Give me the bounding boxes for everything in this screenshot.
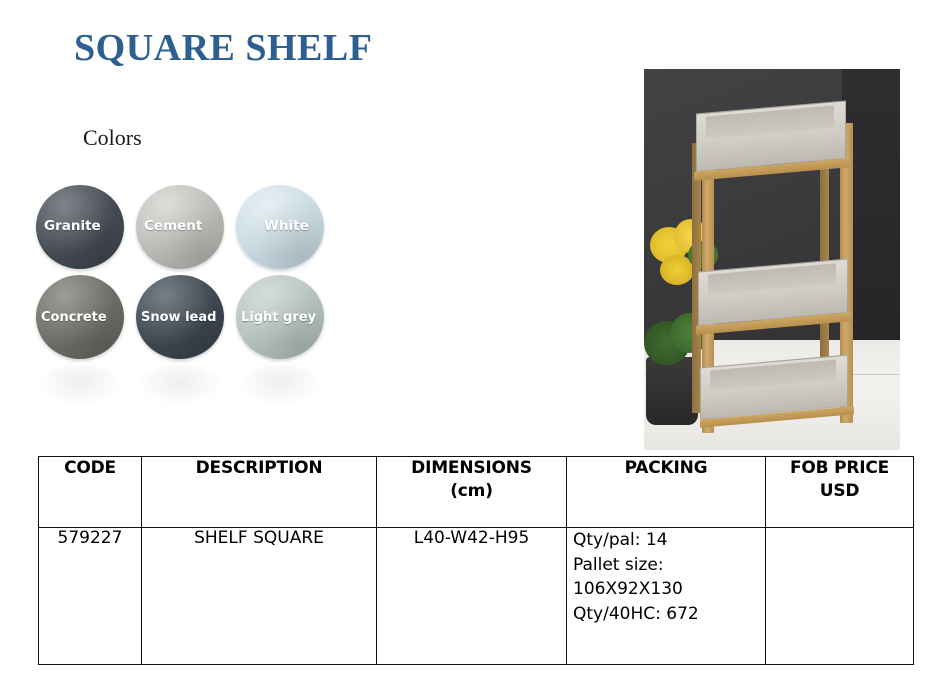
color-swatch-label: Granite xyxy=(36,220,101,234)
photo-planter xyxy=(646,357,698,425)
table-header-fob-price: FOB PRICE USD xyxy=(766,457,914,528)
color-swatch-label: Concrete xyxy=(36,311,107,324)
swatch-shadow xyxy=(136,365,224,407)
color-swatch-label: Snow lead xyxy=(136,311,216,324)
spec-table: CODE DESCRIPTION DIMENSIONS (cm) PACKING… xyxy=(38,456,914,665)
color-swatch-label: White xyxy=(236,220,309,234)
table-header-packing: PACKING xyxy=(567,457,766,528)
table-cell-fob-price xyxy=(766,528,914,665)
color-swatch-light-grey[interactable]: Light grey xyxy=(236,275,324,359)
page-title: SQUARE SHELF xyxy=(74,26,372,70)
color-swatch-label: Cement xyxy=(136,220,202,234)
color-swatch-row-1: Granite Cement White xyxy=(36,185,356,269)
table-cell-packing: Qty/pal: 14 Pallet size: 106X92X130 Qty/… xyxy=(567,528,766,665)
color-swatch-label: Light grey xyxy=(236,311,316,324)
color-swatch-snow-lead[interactable]: Snow lead xyxy=(136,275,224,359)
color-swatch-row-2: Concrete Snow lead Light grey xyxy=(36,275,356,359)
table-cell-description: SHELF SQUARE xyxy=(142,528,377,665)
color-swatch-grid: Granite Cement White Concrete Snow lead … xyxy=(36,185,356,407)
table-header-code: CODE xyxy=(39,457,142,528)
table-row: 579227 SHELF SQUARE L40-W42-H95 Qty/pal:… xyxy=(39,528,914,665)
table-header-description: DESCRIPTION xyxy=(142,457,377,528)
table-header-dimensions: DIMENSIONS (cm) xyxy=(377,457,567,528)
swatch-shadow-row xyxy=(36,365,356,407)
table-cell-code: 579227 xyxy=(39,528,142,665)
table-header-row: CODE DESCRIPTION DIMENSIONS (cm) PACKING… xyxy=(39,457,914,528)
color-swatch-granite[interactable]: Granite xyxy=(36,185,124,269)
color-swatch-white[interactable]: White xyxy=(236,185,324,269)
color-swatch-concrete[interactable]: Concrete xyxy=(36,275,124,359)
product-photo xyxy=(644,69,900,450)
swatch-shadow xyxy=(36,365,124,407)
table-cell-dimensions: L40-W42-H95 xyxy=(377,528,567,665)
colors-section-heading: Colors xyxy=(83,125,142,151)
swatch-shadow xyxy=(236,365,324,407)
color-swatch-cement[interactable]: Cement xyxy=(136,185,224,269)
